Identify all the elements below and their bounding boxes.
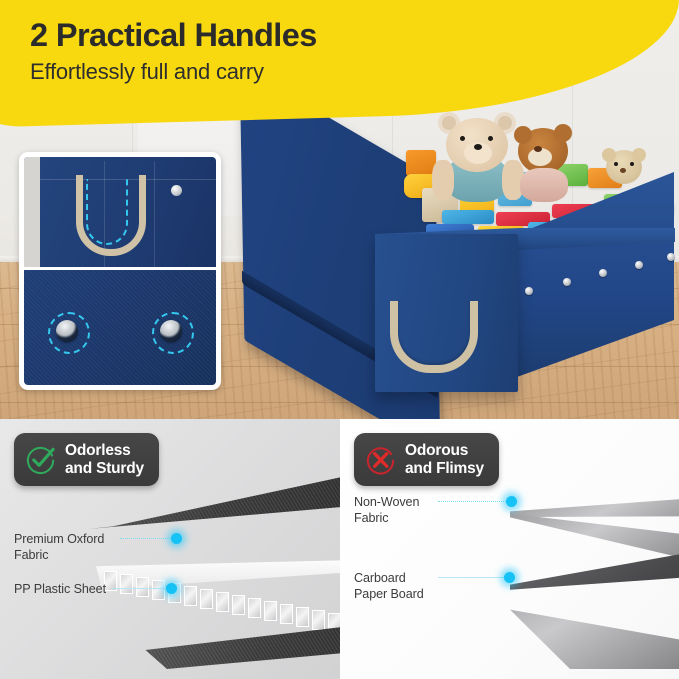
rope-handle <box>390 301 478 373</box>
badge-text-bad: Odorous and Flimsy <box>405 442 484 477</box>
check-circle-icon <box>25 444 56 475</box>
toy-storage-box <box>232 96 679 419</box>
bottom-fabric-sheet <box>140 619 340 669</box>
accent-dot <box>166 583 177 594</box>
rivet-row <box>525 249 675 295</box>
badge-odorless-sturdy: Odorless and Sturdy <box>14 433 159 486</box>
label-cardboard: Carboard Paper Board <box>354 571 424 602</box>
accent-dot <box>171 533 182 544</box>
label-nonwoven-fabric: Non-Woven Fabric <box>354 495 419 526</box>
label-oxford-fabric: Premium Oxford Fabric <box>14 532 104 563</box>
headline-block: 2 Practical Handles Effortlessly full an… <box>30 18 450 85</box>
grommet-photo <box>24 270 216 385</box>
comparison-section: Premium Oxford Fabric PP Plastic Sheet O… <box>0 419 679 679</box>
badge-odorous-flimsy: Odorous and Flimsy <box>354 433 499 486</box>
x-circle-icon <box>365 444 396 475</box>
photo-left-band <box>24 157 40 267</box>
cardboard-sheet-dark <box>510 545 679 609</box>
handle-highlight-dashed <box>86 179 128 245</box>
handle-detail-card <box>19 152 221 390</box>
connector-line <box>438 501 510 502</box>
label-pp-sheet: PP Plastic Sheet <box>14 582 106 598</box>
comparison-pane-bad: Non-Woven Fabric Carboard Paper Board Od… <box>340 419 679 679</box>
grommet-highlight-dashed <box>152 312 194 354</box>
product-infographic: 2 Practical Handles Effortlessly full an… <box>0 0 679 679</box>
connector-line <box>120 538 178 539</box>
accent-dot <box>504 572 515 583</box>
comparison-pane-good: Premium Oxford Fabric PP Plastic Sheet O… <box>0 419 340 679</box>
connector-line <box>438 577 510 578</box>
badge-text-good: Odorless and Sturdy <box>65 442 144 477</box>
fabric-seam <box>154 161 155 267</box>
page-subtitle: Effortlessly full and carry <box>30 59 450 85</box>
page-title: 2 Practical Handles <box>30 18 450 52</box>
rope-handle-photo <box>24 157 216 267</box>
hero-scene: 2 Practical Handles Effortlessly full an… <box>0 0 679 419</box>
metal-clip-icon <box>171 185 182 196</box>
connector-line <box>112 588 172 589</box>
accent-dot <box>506 496 517 507</box>
grommet-highlight-dashed <box>48 312 90 354</box>
